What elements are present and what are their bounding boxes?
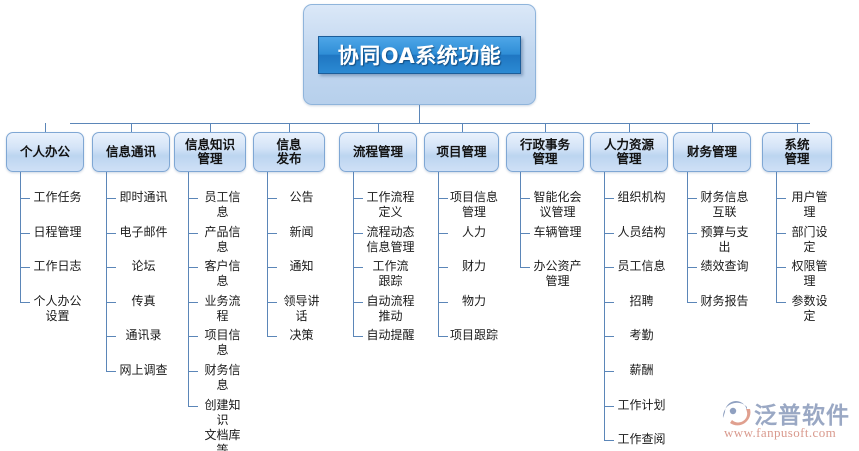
category-box-2[interactable]: 信息通讯 [92, 132, 170, 172]
leaf-item[interactable]: 自动提醒 [364, 328, 417, 343]
leaf-item[interactable]: 网上调查 [117, 363, 170, 378]
leaf-item[interactable]: 组织机构 [615, 190, 668, 205]
leaf-item[interactable]: 参数设定 [787, 294, 832, 324]
category-box-1[interactable]: 个人办公 [6, 132, 84, 172]
branch-stem-line [520, 172, 521, 267]
category-box-7[interactable]: 行政事务 管理 [506, 132, 584, 172]
category-box-4[interactable]: 信息 发布 [253, 132, 325, 172]
leaf-tick-line [776, 233, 786, 234]
leaf-tick-line [188, 233, 198, 234]
leaf-item[interactable]: 论坛 [117, 259, 170, 274]
leaf-tick-line [188, 302, 198, 303]
leaf-item[interactable]: 智能化会 议管理 [531, 190, 584, 220]
leaf-tick-line [353, 267, 363, 268]
leaf-item[interactable]: 车辆管理 [531, 225, 584, 240]
watermark: 泛普软件 www.fanpusoft.com [722, 396, 854, 446]
leaf-item[interactable]: 物力 [449, 294, 499, 309]
leaf-item[interactable]: 工作流 跟踪 [364, 259, 417, 289]
leaf-item[interactable]: 工作计划 [615, 398, 668, 413]
leaf-item[interactable]: 个人办公 设置 [31, 294, 84, 324]
leaf-tick-line [106, 336, 116, 337]
leaf-item[interactable]: 考勤 [615, 328, 668, 343]
leaf-tick-line [267, 336, 277, 337]
leaf-item[interactable]: 新闻 [278, 225, 325, 240]
leaf-item[interactable]: 项目信息 [199, 328, 246, 358]
leaf-tick-line [604, 336, 614, 337]
leaf-tick-line [20, 198, 30, 199]
branch-stem-line [438, 172, 439, 336]
leaf-tick-line [353, 198, 363, 199]
category-box-9[interactable]: 财务管理 [673, 132, 751, 172]
category-label: 人力资源 管理 [604, 138, 654, 166]
leaf-tick-line [106, 371, 116, 372]
leaf-item[interactable]: 业务流程 [199, 294, 246, 324]
leaf-tick-line [604, 267, 614, 268]
category-box-6[interactable]: 项目管理 [424, 132, 499, 172]
leaf-item[interactable]: 用户管理 [787, 190, 832, 220]
branch-drop-line [797, 123, 798, 132]
leaf-item[interactable]: 工作日志 [31, 259, 84, 274]
leaf-tick-line [267, 302, 277, 303]
leaf-tick-line [520, 233, 530, 234]
leaf-tick-line [188, 336, 198, 337]
category-box-8[interactable]: 人力资源 管理 [590, 132, 668, 172]
root-trunk-line [419, 105, 420, 123]
leaf-tick-line [776, 267, 786, 268]
category-label: 行政事务 管理 [520, 138, 570, 166]
leaf-tick-line [188, 198, 198, 199]
leaf-item[interactable]: 通讯录 [117, 328, 170, 343]
leaf-tick-line [20, 233, 30, 234]
branch-bus-line [70, 123, 810, 124]
leaf-tick-line [106, 198, 116, 199]
branch-drop-line [210, 123, 211, 132]
leaf-item[interactable]: 通知 [278, 259, 325, 274]
category-label: 财务管理 [687, 145, 737, 159]
leaf-item[interactable]: 即时通讯 [117, 190, 170, 205]
leaf-item[interactable]: 客户信息 [199, 259, 246, 289]
leaf-tick-line [687, 302, 697, 303]
leaf-item[interactable]: 创建知识 文档库等 [199, 398, 246, 451]
leaf-tick-line [776, 198, 786, 199]
fanpu-logo-icon [722, 398, 752, 426]
leaf-tick-line [267, 233, 277, 234]
leaf-item[interactable]: 财务报告 [698, 294, 751, 309]
leaf-tick-line [188, 371, 198, 372]
leaf-item[interactable]: 领导讲话 [278, 294, 325, 324]
leaf-tick-line [438, 267, 448, 268]
branch-drop-line [462, 123, 463, 132]
leaf-tick-line [604, 198, 614, 199]
category-label: 流程管理 [353, 145, 403, 159]
leaf-item[interactable]: 自动流程 推动 [364, 294, 417, 324]
leaf-item[interactable]: 预算与支 出 [698, 225, 751, 255]
leaf-item[interactable]: 人力 [449, 225, 499, 240]
leaf-item[interactable]: 绩效查询 [698, 259, 751, 274]
leaf-item[interactable]: 决策 [278, 328, 325, 343]
leaf-tick-line [20, 267, 30, 268]
branch-stem-line [106, 172, 107, 371]
root-node[interactable]: 协同OA系统功能 [318, 36, 521, 74]
branch-stem-line [20, 172, 21, 302]
branch-drop-line [629, 123, 630, 132]
leaf-item[interactable]: 工作流程 定义 [364, 190, 417, 220]
leaf-tick-line [438, 302, 448, 303]
watermark-url: www.fanpusoft.com [724, 425, 836, 441]
leaf-tick-line [604, 302, 614, 303]
leaf-tick-line [438, 336, 448, 337]
leaf-item[interactable]: 项目信息 管理 [449, 190, 499, 220]
category-label: 个人办公 [20, 145, 70, 159]
category-label: 信息 发布 [276, 138, 301, 166]
leaf-tick-line [520, 267, 530, 268]
leaf-tick-line [353, 302, 363, 303]
leaf-item[interactable]: 人员结构 [615, 225, 668, 240]
category-box-3[interactable]: 信息知识 管理 [174, 132, 246, 172]
leaf-tick-line [267, 198, 277, 199]
leaf-item[interactable]: 财务信息 [199, 363, 246, 393]
leaf-item[interactable]: 权限管理 [787, 259, 832, 289]
branch-stem-line [353, 172, 354, 336]
branch-drop-line [545, 123, 546, 132]
branch-drop-line [378, 123, 379, 132]
leaf-tick-line [687, 198, 697, 199]
leaf-item[interactable]: 工作查阅 [615, 432, 668, 447]
leaf-item[interactable]: 产品信息 [199, 225, 246, 255]
leaf-item[interactable]: 财务信息 互联 [698, 190, 751, 220]
leaf-tick-line [353, 233, 363, 234]
leaf-item[interactable]: 员工信息 [199, 190, 246, 220]
leaf-tick-line [604, 233, 614, 234]
category-label: 系统 管理 [784, 138, 809, 166]
leaf-tick-line [438, 198, 448, 199]
branch-stem-line [687, 172, 688, 302]
branch-stem-line [776, 172, 777, 302]
leaf-item[interactable]: 项目跟踪 [449, 328, 499, 343]
leaf-tick-line [188, 406, 198, 407]
leaf-item[interactable]: 薪酬 [615, 363, 668, 378]
leaf-tick-line [20, 302, 30, 303]
leaf-tick-line [188, 267, 198, 268]
category-label: 信息知识 管理 [185, 138, 235, 166]
branch-drop-line [289, 123, 290, 132]
leaf-item[interactable]: 工作任务 [31, 190, 84, 205]
leaf-tick-line [438, 233, 448, 234]
leaf-tick-line [687, 267, 697, 268]
branch-drop-line [131, 123, 132, 132]
leaf-tick-line [267, 267, 277, 268]
leaf-tick-line [687, 233, 697, 234]
branch-drop-line [712, 123, 713, 132]
leaf-item[interactable]: 部门设定 [787, 225, 832, 255]
branch-stem-line [267, 172, 268, 336]
leaf-item[interactable]: 财力 [449, 259, 499, 274]
root-title: 协同OA系统功能 [338, 40, 502, 70]
category-box-10[interactable]: 系统 管理 [762, 132, 832, 172]
leaf-item[interactable]: 传真 [117, 294, 170, 309]
leaf-tick-line [776, 302, 786, 303]
category-box-5[interactable]: 流程管理 [339, 132, 417, 172]
leaf-tick-line [106, 233, 116, 234]
leaf-item[interactable]: 办公资产 管理 [531, 259, 584, 289]
category-label: 项目管理 [436, 145, 486, 159]
watermark-brand: 泛普软件 [754, 396, 850, 430]
leaf-item[interactable]: 公告 [278, 190, 325, 205]
leaf-item[interactable]: 流程动态 信息管理 [364, 225, 417, 255]
leaf-item[interactable]: 招聘 [615, 294, 668, 309]
leaf-tick-line [106, 302, 116, 303]
leaf-item[interactable]: 员工信息 [615, 259, 668, 274]
leaf-item[interactable]: 电子邮件 [117, 225, 170, 240]
branch-drop-line [45, 123, 46, 132]
leaf-item[interactable]: 日程管理 [31, 225, 84, 240]
leaf-tick-line [520, 198, 530, 199]
diagram-canvas: 协同OA系统功能 个人办公工作任务日程管理工作日志个人办公 设置信息通讯即时通讯… [0, 0, 859, 451]
leaf-tick-line [604, 406, 614, 407]
branch-stem-line [604, 172, 605, 440]
leaf-tick-line [604, 371, 614, 372]
leaf-tick-line [353, 336, 363, 337]
leaf-tick-line [106, 267, 116, 268]
leaf-tick-line [604, 440, 614, 441]
category-label: 信息通讯 [106, 145, 156, 159]
